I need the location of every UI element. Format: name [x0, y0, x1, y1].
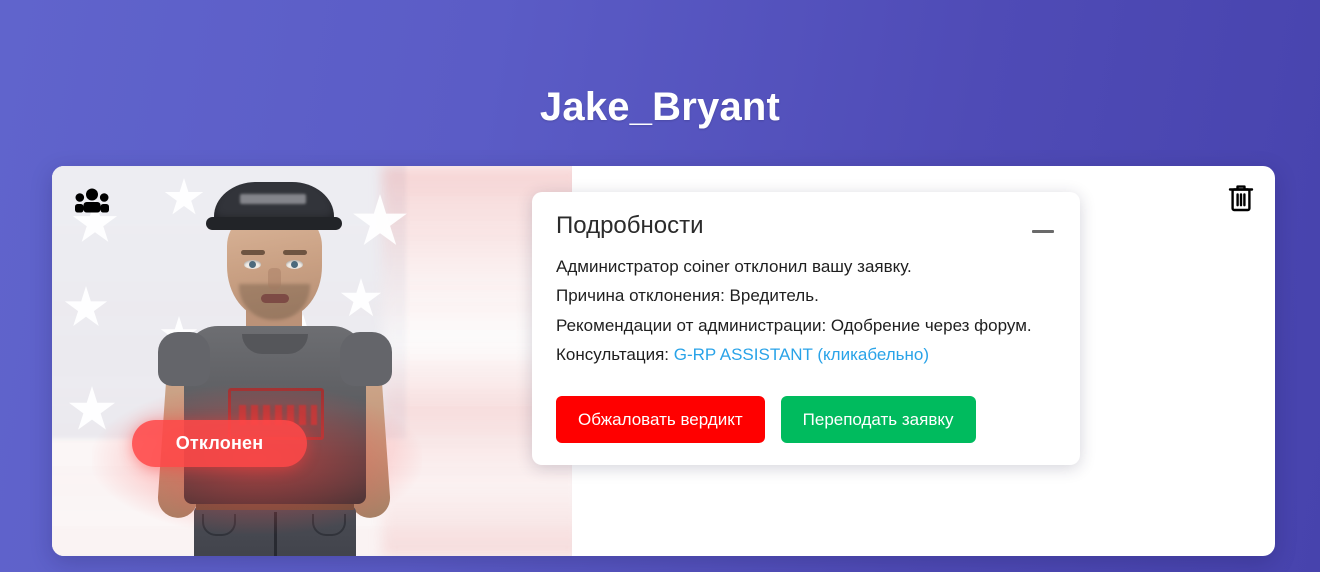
character-preview: Отклонен: [52, 166, 572, 556]
consultation-label: Консультация:: [556, 345, 674, 364]
details-line-recommendation: Рекомендации от администрации: Одобрение…: [556, 313, 1056, 339]
character-brow-left: [241, 250, 265, 255]
trash-icon[interactable]: [1221, 178, 1261, 218]
character-eye-right: [286, 260, 303, 269]
character-shirt: [184, 326, 366, 504]
shirt-sleeve-right: [340, 332, 392, 386]
character-eye-left: [244, 260, 261, 269]
shirt-collar: [242, 334, 308, 354]
minus-icon[interactable]: [1030, 218, 1056, 244]
shirt-sleeve-left: [158, 332, 210, 386]
users-group-icon[interactable]: [72, 180, 112, 220]
page-title: Jake_Bryant: [0, 85, 1320, 129]
character-nose: [268, 268, 281, 290]
character-brow-right: [283, 250, 307, 255]
jeans-pocket-left: [202, 514, 236, 536]
details-header: Подробности: [556, 212, 1056, 244]
appeal-verdict-button[interactable]: Обжаловать вердикт: [556, 396, 765, 443]
resubmit-application-button[interactable]: Переподать заявку: [781, 396, 976, 443]
details-line-admin: Администратор coiner отклонил вашу заявк…: [556, 254, 1056, 280]
details-line-consultation: Консультация: G-RP ASSISTANT (кликабельн…: [556, 342, 1056, 368]
details-title: Подробности: [556, 212, 704, 241]
details-actions: Обжаловать вердикт Переподать заявку: [556, 396, 1056, 443]
jeans-pocket-right: [312, 514, 346, 536]
consultation-link[interactable]: G-RP ASSISTANT (кликабельно): [674, 345, 929, 364]
cap-logo: [240, 194, 306, 204]
minus-bar: [1032, 230, 1054, 233]
details-line-reason: Причина отклонения: Вредитель.: [556, 283, 1056, 309]
details-panel: Подробности Администратор coiner отклони…: [532, 192, 1080, 465]
application-card: Отклонен Подробности Администратор coine…: [52, 166, 1275, 556]
character-model: [148, 176, 398, 556]
character-jeans: [194, 506, 356, 556]
status-badge: Отклонен: [132, 420, 307, 467]
character-mouth: [261, 294, 289, 303]
character-cap: [214, 182, 334, 224]
